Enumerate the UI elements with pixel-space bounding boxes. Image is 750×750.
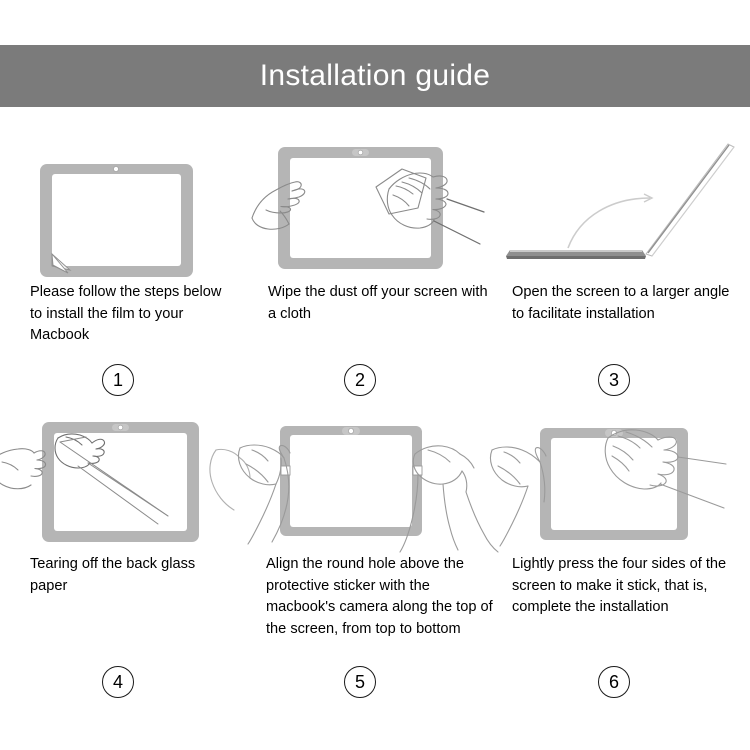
step-number-5: 5 [344,666,376,698]
tablet-bezel-icon [280,426,422,536]
header-banner: Installation guide [0,45,750,107]
step-number-2: 2 [344,364,376,396]
step-2-caption: Wipe the dust off your screen with a clo… [250,282,500,325]
step-card-6: Lightly press the four sides of the scre… [500,404,750,694]
step-5-caption: Align the round hole above the protectiv… [250,554,500,640]
step-4-illustration [0,404,250,552]
installation-guide-page: Installation guide [0,0,750,750]
laptop-base-icon [506,250,646,259]
step-number-3: 3 [598,364,630,396]
tablet-bezel-icon [40,164,193,277]
step-number-1: 1 [102,364,134,396]
step-4-caption: Tearing off the back glass paper [0,554,250,597]
step-5-illustration [250,404,500,552]
step-6-illustration [500,404,750,552]
page-title: Installation guide [260,59,491,93]
left-hand-icon [0,449,46,489]
step-1-caption: Please follow the steps below to install… [0,282,250,347]
tablet-bezel-icon [42,422,199,542]
step-card-1: Please follow the steps below to install… [0,132,250,404]
steps-grid: Please follow the steps below to install… [0,132,750,732]
step-card-5: Align the round hole above the protectiv… [250,404,500,694]
step-number-4: 4 [102,666,134,698]
step-2-illustration [250,132,500,280]
step-3-illustration [500,132,750,280]
right-edge-hand-icon [210,449,250,510]
step-card-2: Wipe the dust off your screen with a clo… [250,132,500,404]
step-card-3: Open the screen to a larger angle to fac… [500,132,750,404]
step-6-caption: Lightly press the four sides of the scre… [500,554,750,619]
tablet-bezel-icon [540,428,688,540]
step-3-caption: Open the screen to a larger angle to fac… [500,282,750,325]
step-card-4: Tearing off the back glass paper 4 [0,404,250,694]
step-number-6: 6 [598,666,630,698]
laptop-screen-icon [646,144,734,256]
step-1-illustration [0,132,250,280]
open-angle-arrow-icon [568,194,652,248]
